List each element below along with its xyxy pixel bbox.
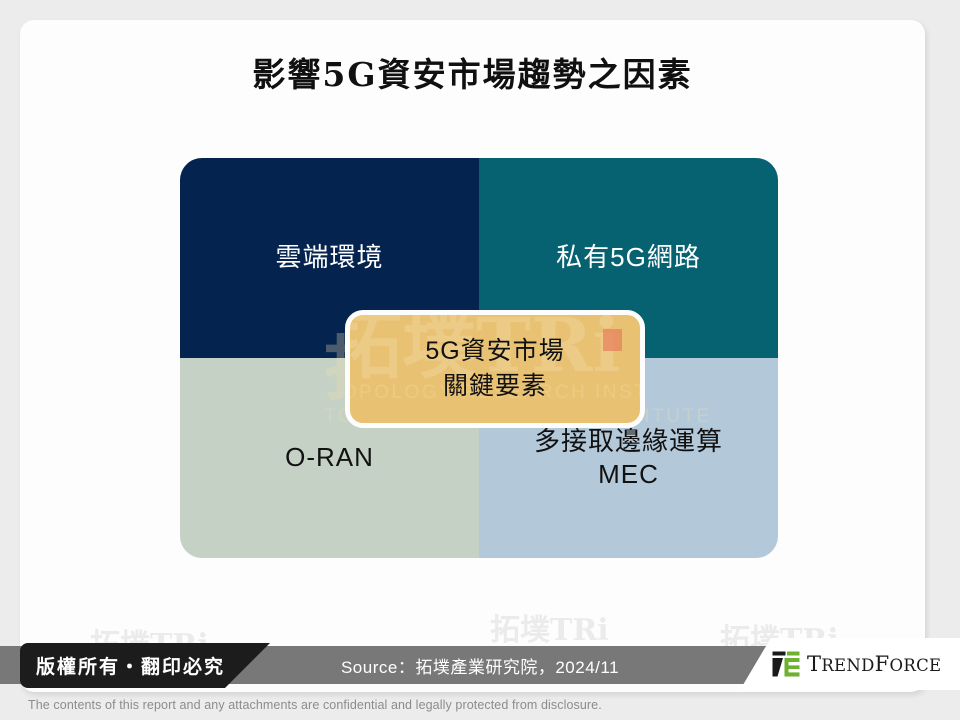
trendforce-wordmark: TRENDFORCE bbox=[807, 652, 941, 676]
trendforce-logo[interactable]: TRENDFORCE bbox=[772, 651, 941, 677]
source-text: Source：拓墣產業研究院，2024/11 bbox=[341, 653, 619, 678]
quadrant-label-line2: MEC bbox=[534, 458, 723, 491]
quadrant-label: 雲端環境 bbox=[275, 241, 383, 274]
center-key-elements-badge[interactable]: 拓墣TRi TOPOLOGY RESEARCH INSTITUTE 5G資安市場… bbox=[345, 310, 645, 428]
quadrant-label: 私有5G網路 bbox=[556, 241, 701, 274]
quadrant-label: 多接取邊緣運算 MEC bbox=[534, 425, 723, 492]
wordmark-orce: ORCE bbox=[890, 656, 942, 675]
slide-card: 拓墣TRi 拓墣TRi 拓墣TRi 影響5G資安市場趨勢之因素 雲端環境 私有5… bbox=[20, 20, 925, 692]
quadrant-label: O-RAN bbox=[285, 441, 374, 474]
background-watermark: 拓墣TRi bbox=[490, 605, 609, 649]
accent-square-icon bbox=[603, 329, 622, 351]
center-badge-line2: 關鍵要素 bbox=[443, 369, 547, 405]
quadrant-diagram: 雲端環境 私有5G網路 O-RAN 多接取邊緣運算 MEC 拓墣TRi TOPO… bbox=[180, 158, 778, 558]
page-title: 影響5G資安市場趨勢之因素 bbox=[20, 48, 925, 96]
wordmark-rend: REND bbox=[821, 656, 874, 675]
disclaimer-text: The contents of this report and any atta… bbox=[28, 698, 602, 712]
quadrant-label-line1: 多接取邊緣運算 bbox=[534, 425, 723, 458]
trendforce-logo-icon bbox=[772, 651, 800, 677]
wordmark-f: F bbox=[875, 652, 890, 676]
logo-panel: TRENDFORCE bbox=[740, 638, 960, 690]
center-badge-line1: 5G資安市場 bbox=[425, 334, 564, 370]
wordmark-t: T bbox=[807, 652, 821, 676]
